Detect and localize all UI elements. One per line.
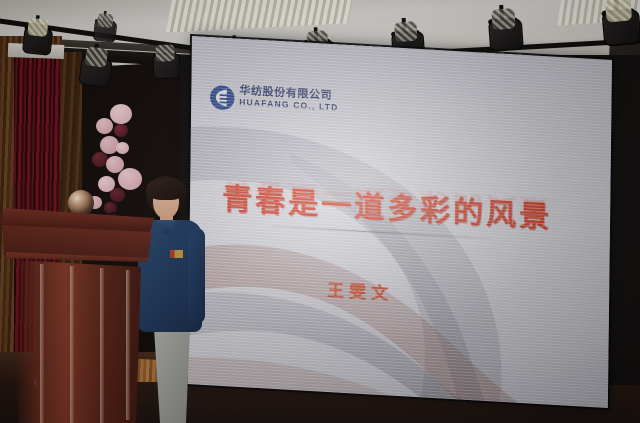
projection-screen: 华纺股份有限公司 HUAFANG CO., LTD 青春是一道多彩的风景 青春是… — [188, 36, 612, 408]
slide-author-name: 王雯文 — [327, 276, 393, 305]
presenter-chest-logo — [170, 250, 183, 258]
balloon — [110, 104, 132, 124]
podium-rib — [40, 264, 44, 423]
podium-rib — [70, 266, 74, 423]
podium-rib — [100, 268, 104, 423]
balloon — [96, 118, 113, 134]
balloon — [110, 188, 125, 202]
balloon — [116, 142, 129, 154]
slide-background-ribbons — [188, 95, 612, 408]
podium-body — [14, 258, 142, 423]
podium-rib — [126, 270, 130, 420]
photo-scene: 华纺股份有限公司 HUAFANG CO., LTD 青春是一道多彩的风景 青春是… — [0, 0, 640, 423]
balloon — [114, 124, 128, 137]
presenter-arm — [188, 228, 205, 324]
podium — [0, 208, 160, 423]
huafang-logo-mark — [209, 84, 235, 111]
presenter-hair-front — [146, 178, 186, 200]
